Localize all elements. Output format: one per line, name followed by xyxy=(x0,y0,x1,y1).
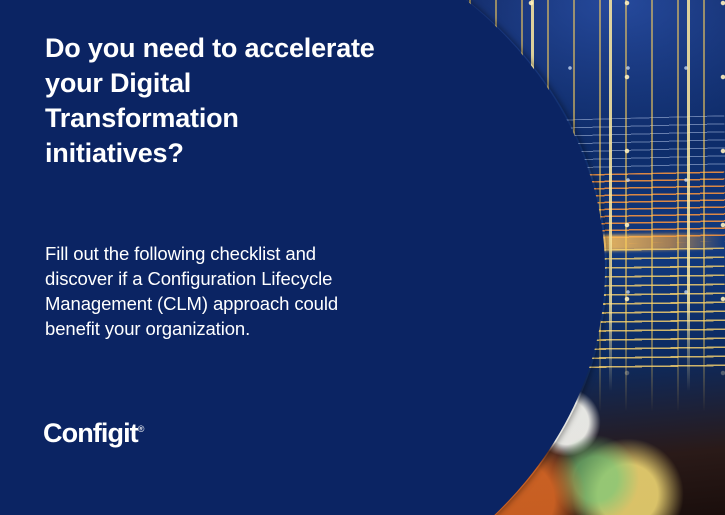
promo-slide: Do you need to accelerate your Digital T… xyxy=(0,0,725,515)
body-copy: Fill out the following checklist and dis… xyxy=(45,241,355,341)
logo-wordmark: Configit xyxy=(43,418,138,448)
configit-logo: Configit® xyxy=(43,420,144,447)
text-column: Do you need to accelerate your Digital T… xyxy=(0,0,400,515)
circuit-board-image xyxy=(365,0,725,515)
registered-trademark-icon: ® xyxy=(138,424,145,434)
headline: Do you need to accelerate your Digital T… xyxy=(45,31,375,171)
